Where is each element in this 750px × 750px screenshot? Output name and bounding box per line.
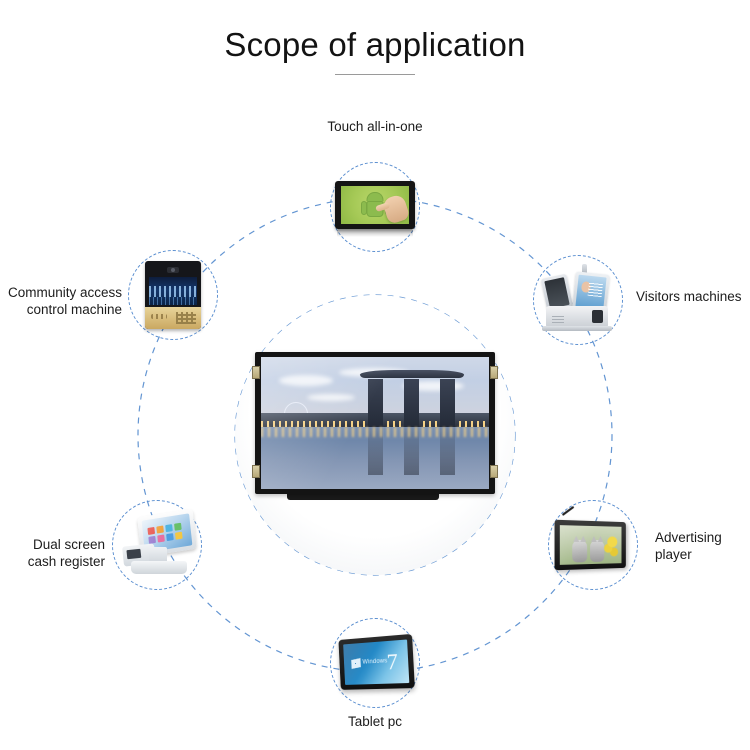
windows-wordmark: Windows — [362, 658, 387, 665]
app-tile — [157, 534, 165, 542]
access-panel-chassis — [145, 261, 201, 329]
visitor-kiosk-icon — [530, 260, 626, 340]
panel-screen — [261, 357, 489, 489]
node-visitors-machines[interactable] — [533, 255, 623, 345]
app-tile — [147, 527, 155, 535]
scope-of-application-page: Scope of application — [0, 0, 750, 750]
display-frame — [555, 520, 626, 571]
android-touch-tablet-icon — [327, 167, 423, 247]
access-panel-screen — [149, 277, 197, 305]
city-reflection-lights — [149, 297, 197, 305]
windows-logo-icon — [351, 658, 361, 669]
app-tile — [165, 524, 173, 532]
android-robot-head — [367, 192, 384, 201]
vent-grille — [552, 314, 564, 323]
pos-base — [131, 561, 187, 574]
display-screen — [560, 525, 622, 565]
yellow-flowers-shape — [602, 534, 618, 560]
tablet-screen — [341, 186, 409, 224]
tablet-chassis — [335, 181, 415, 229]
secondary-screen-surface — [544, 277, 569, 309]
kiosk-base — [546, 306, 608, 328]
label-dual-screen-cash-register: Dual screen cash register — [0, 536, 105, 570]
tower-shape — [404, 379, 419, 427]
mount-bracket-icon — [252, 366, 260, 379]
windows-tablet-icon: Windows 7 — [327, 623, 423, 703]
device-reflection — [337, 229, 413, 237]
app-tile — [156, 526, 164, 534]
node-dual-screen-cash-register[interactable] — [112, 500, 202, 590]
advertising-display-icon — [545, 505, 641, 585]
android-robot-arm — [361, 201, 367, 215]
kiosk-foot — [542, 326, 612, 331]
mount-bracket-icon — [252, 465, 260, 478]
keypad-icon — [176, 312, 196, 324]
app-tile-grid — [147, 523, 182, 544]
node-advertising-player[interactable] — [548, 500, 638, 590]
label-tablet-pc: Tablet pc — [275, 713, 475, 730]
pos-terminal-icon — [109, 505, 205, 585]
antenna-icon — [562, 506, 575, 516]
marina-bay-towers — [366, 375, 458, 427]
panel-body — [255, 352, 495, 494]
access-control-panel-icon — [125, 255, 221, 335]
tower-shape — [440, 379, 455, 427]
label-visitors-machines: Visitors machines — [636, 288, 750, 305]
node-tablet-pc[interactable]: Windows 7 — [330, 618, 420, 708]
mount-bracket-icon — [490, 366, 498, 379]
city-skyline-lights — [149, 286, 197, 297]
node-community-access-control-machine[interactable] — [128, 250, 218, 340]
node-touch-all-in-one[interactable] — [330, 162, 420, 252]
kitten-shape — [572, 540, 587, 563]
app-tile — [174, 523, 182, 531]
tower-shape — [368, 379, 383, 427]
app-tile — [175, 532, 183, 540]
form-lines — [588, 282, 603, 297]
light-reflection-glow — [261, 427, 489, 437]
sky-deck — [360, 370, 464, 378]
label-touch-all-in-one: Touch all-in-one — [275, 118, 475, 135]
cloud-shape — [307, 394, 355, 401]
pointing-hand-icon — [382, 193, 409, 224]
radial-diagram: Touch all-in-one — [0, 0, 750, 750]
center-product-lcd-panel — [255, 352, 495, 502]
camera-icon — [167, 267, 179, 273]
customer-screen-surface — [126, 549, 141, 559]
tablet-screen: Windows 7 — [343, 639, 409, 684]
speaker-grille-icon — [151, 314, 167, 319]
tablet-frame: Windows 7 — [338, 634, 414, 690]
label-community-access-control-machine: Community access control machine — [0, 284, 122, 318]
label-advertising-player: Advertising player — [655, 529, 750, 563]
app-tile — [148, 536, 156, 544]
windows-version-number: 7 — [386, 651, 398, 674]
gold-keypad-panel — [145, 307, 201, 329]
app-tile — [166, 533, 174, 541]
mount-bracket-icon — [490, 465, 498, 478]
main-screen-surface — [575, 275, 606, 310]
card-slot — [592, 310, 603, 323]
